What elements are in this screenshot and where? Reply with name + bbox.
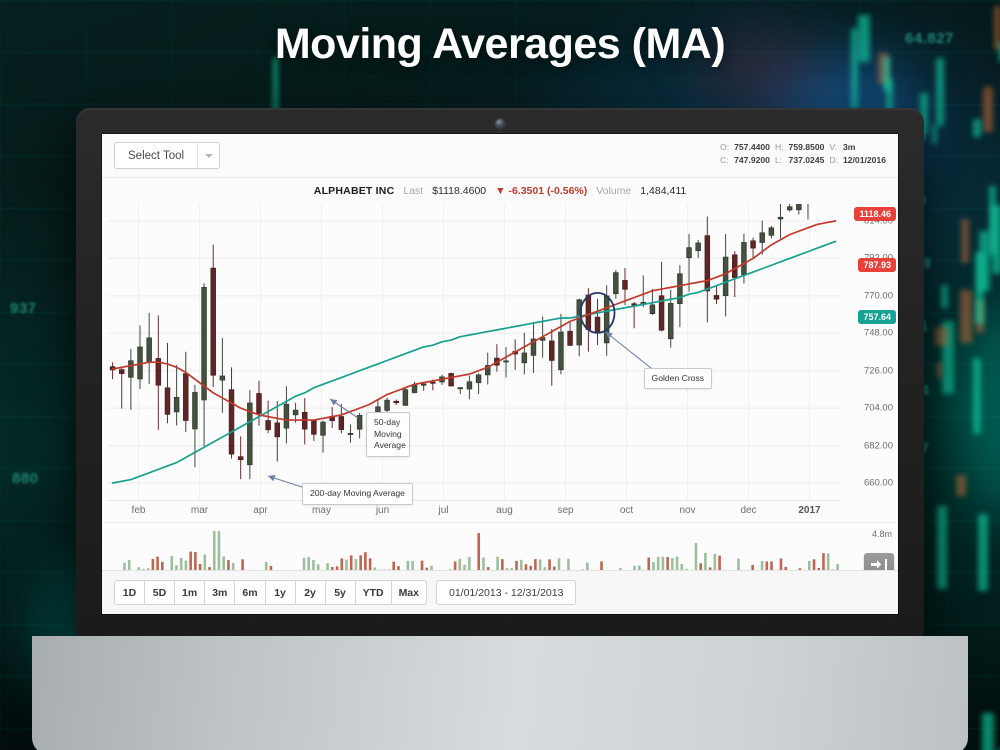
volume-value: 1,484,411	[640, 185, 686, 197]
range-button-6m[interactable]: 6m	[234, 580, 264, 605]
date-tick: mar	[191, 505, 208, 516]
date-tick: apr	[253, 505, 267, 516]
page-title: Moving Averages (MA)	[0, 20, 1000, 69]
range-button-1m[interactable]: 1m	[174, 580, 204, 605]
date-tick: may	[312, 505, 331, 516]
ohlc-low-key: L:	[775, 154, 784, 167]
ohlc-high-key: H:	[775, 141, 784, 154]
date-tick: jul	[438, 505, 448, 516]
background-candle	[937, 506, 947, 589]
select-tool-label: Select Tool	[115, 143, 197, 168]
date-range-field[interactable]: 01/01/2013 - 12/31/2013	[436, 580, 576, 605]
ohlc-close-key: C:	[720, 154, 729, 167]
chart-svg	[108, 204, 840, 500]
background-candle	[937, 362, 942, 378]
quote-bar: ALPHABET INC Last $1118.4600 ▼ -6.3501 (…	[102, 178, 898, 204]
screen: Select Tool O: 757.4400 H: 759.8500 V: 3…	[102, 134, 898, 614]
range-button-1y[interactable]: 1y	[265, 580, 295, 605]
volume-label: Volume	[596, 185, 631, 197]
date-tick: feb	[132, 505, 146, 516]
ma50-badge: 787.93	[858, 258, 896, 272]
price-tick: 770.00	[864, 290, 893, 301]
chevron-down-icon[interactable]	[197, 143, 219, 168]
background-candle	[961, 219, 969, 264]
last-label: Last	[403, 185, 423, 197]
background-number: 880	[12, 470, 39, 487]
last-price-badge: 1118.46	[854, 207, 896, 221]
date-tick: oct	[620, 505, 633, 516]
background-candle	[975, 252, 984, 324]
price-axis: 814.00792.00770.00748.00726.00704.00682.…	[840, 204, 898, 500]
background-candle	[982, 713, 994, 750]
background-candle	[973, 119, 982, 137]
background-candle	[983, 87, 994, 132]
app-toolbar: Select Tool O: 757.4400 H: 759.8500 V: 3…	[102, 134, 898, 178]
background-candle	[932, 125, 937, 144]
background-candle	[956, 475, 967, 496]
range-button-5d[interactable]: 5D	[144, 580, 174, 605]
ohlc-close-value: 747.9200	[734, 154, 770, 167]
select-tool-dropdown[interactable]: Select Tool	[114, 142, 220, 169]
background-candle	[978, 514, 988, 591]
ticker-symbol: ALPHABET INC	[314, 185, 395, 197]
range-button-3m[interactable]: 3m	[204, 580, 234, 605]
ohlc-date-key: D:	[829, 154, 838, 167]
ohlc-volume-key: V:	[829, 141, 838, 154]
background-number: 937	[10, 300, 37, 317]
background-candle	[935, 327, 948, 346]
volume-tick: 4.8m	[872, 529, 892, 539]
monitor-chin	[32, 636, 968, 750]
price-tick: 660.00	[864, 477, 893, 488]
date-tick: 2017	[798, 505, 820, 516]
price-tick: 682.00	[864, 440, 893, 451]
ohlc-low-value: 737.0245	[789, 154, 825, 167]
range-button-1d[interactable]: 1D	[114, 580, 144, 605]
golden-cross-callout: Golden Cross	[644, 368, 713, 390]
date-tick: dec	[740, 505, 756, 516]
range-button-max[interactable]: Max	[391, 580, 427, 605]
range-button-5y[interactable]: 5y	[325, 580, 355, 605]
range-button-2y[interactable]: 2y	[295, 580, 325, 605]
ohlc-open-key: O:	[720, 141, 729, 154]
ohlc-open-value: 757.4400	[734, 141, 770, 154]
ma200-callout: 200-day Moving Average	[302, 483, 413, 505]
range-button-ytd[interactable]: YTD	[355, 580, 391, 605]
price-tick: 726.00	[864, 365, 893, 376]
background-candle	[941, 285, 948, 309]
ma50-callout: 50-day Moving Average	[366, 412, 410, 457]
ohlc-readout: O: 757.4400 H: 759.8500 V: 3m C: 747.920…	[720, 141, 886, 167]
price-change: ▼ -6.3501 (-0.56%)	[495, 185, 587, 197]
range-button-group[interactable]: 1D5D1m3m6m1y2y5yYTDMax	[114, 580, 427, 605]
price-tick: 704.00	[864, 403, 893, 414]
background-candle	[973, 358, 981, 434]
date-tick: nov	[679, 505, 695, 516]
ma-line	[113, 221, 836, 420]
monitor: Select Tool O: 757.4400 H: 759.8500 V: 3…	[76, 108, 924, 636]
date-tick: sep	[557, 505, 573, 516]
price-tick: 748.00	[864, 328, 893, 339]
ma200-badge: 757.64	[858, 310, 896, 324]
date-tick: jun	[376, 505, 389, 516]
date-axis: febmaraprmayjunjulaugsepoctnovdec2017	[108, 500, 840, 522]
webcam-icon	[496, 119, 505, 128]
price-chart[interactable]: 814.00792.00770.00748.00726.00704.00682.…	[102, 204, 898, 522]
ohlc-date-value: 12/01/2016	[843, 154, 886, 167]
background-candle	[992, 205, 1000, 274]
background-candle	[960, 290, 972, 343]
date-tick: aug	[496, 505, 513, 516]
range-toolbar: 1D5D1m3m6m1y2y5yYTDMax 01/01/2013 - 12/3…	[102, 570, 898, 614]
last-price: $1118.4600	[432, 185, 486, 197]
ohlc-high-value: 759.8500	[789, 141, 825, 154]
chart-plot-area[interactable]	[108, 204, 840, 500]
ohlc-volume-value: 3m	[843, 141, 886, 154]
